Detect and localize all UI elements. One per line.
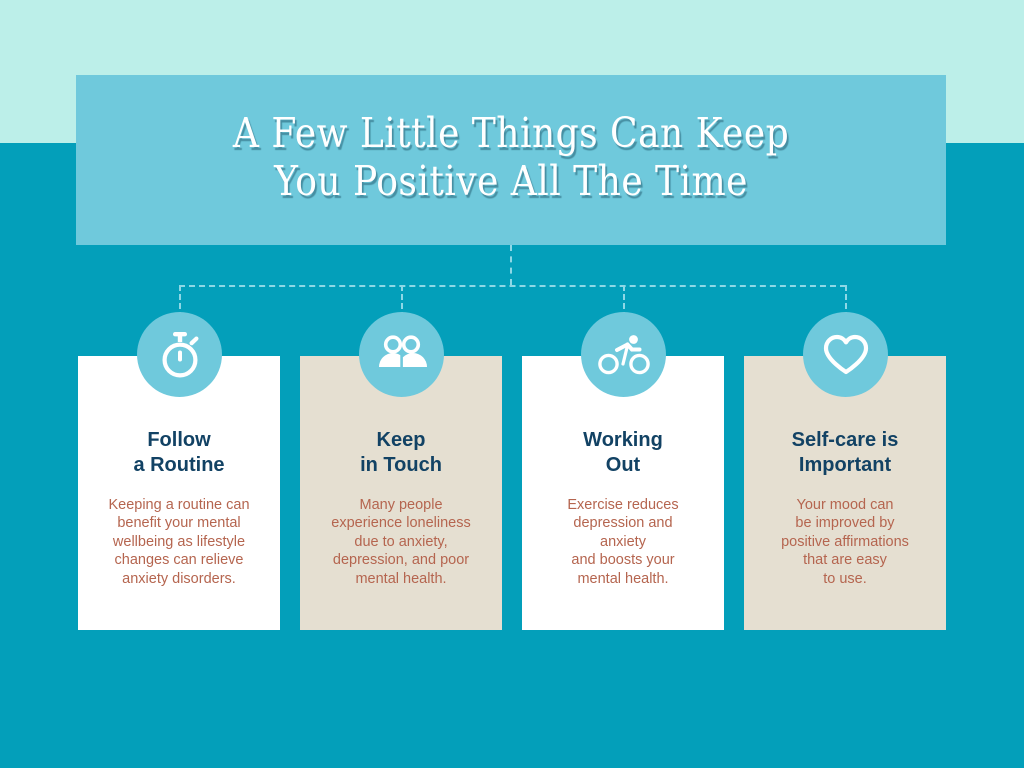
card-follow-a-routine[interactable]: Follow a Routine Keeping a routine can b… (78, 356, 280, 630)
stopwatch-icon (137, 312, 222, 397)
card-body: Many people experience loneliness due to… (312, 496, 490, 589)
infographic-canvas: A Few Little Things Can Keep You Positiv… (0, 0, 1024, 768)
connector-stem (510, 245, 512, 285)
card-row: Follow a Routine Keeping a routine can b… (78, 356, 946, 630)
connector-bar (179, 285, 846, 287)
card-body: Exercise reduces depression and anxiety … (534, 496, 712, 589)
card-keep-in-touch[interactable]: Keep in Touch Many people experience lon… (300, 356, 502, 630)
card-title: Keep in Touch (312, 428, 490, 478)
card-self-care[interactable]: Self-care is Important Your mood can be … (744, 356, 946, 630)
card-title: Follow a Routine (90, 428, 268, 478)
page-title: A Few Little Things Can Keep You Positiv… (233, 110, 789, 210)
two-people-icon (359, 312, 444, 397)
card-body: Your mood can be improved by positive af… (756, 496, 934, 589)
card-title: Working Out (534, 428, 712, 478)
card-title: Self-care is Important (756, 428, 934, 478)
card-body: Keeping a routine can benefit your menta… (90, 496, 268, 589)
cyclist-icon (581, 312, 666, 397)
title-banner: A Few Little Things Can Keep You Positiv… (76, 75, 946, 245)
card-working-out[interactable]: Working Out Exercise reduces depression … (522, 356, 724, 630)
heart-icon (803, 312, 888, 397)
